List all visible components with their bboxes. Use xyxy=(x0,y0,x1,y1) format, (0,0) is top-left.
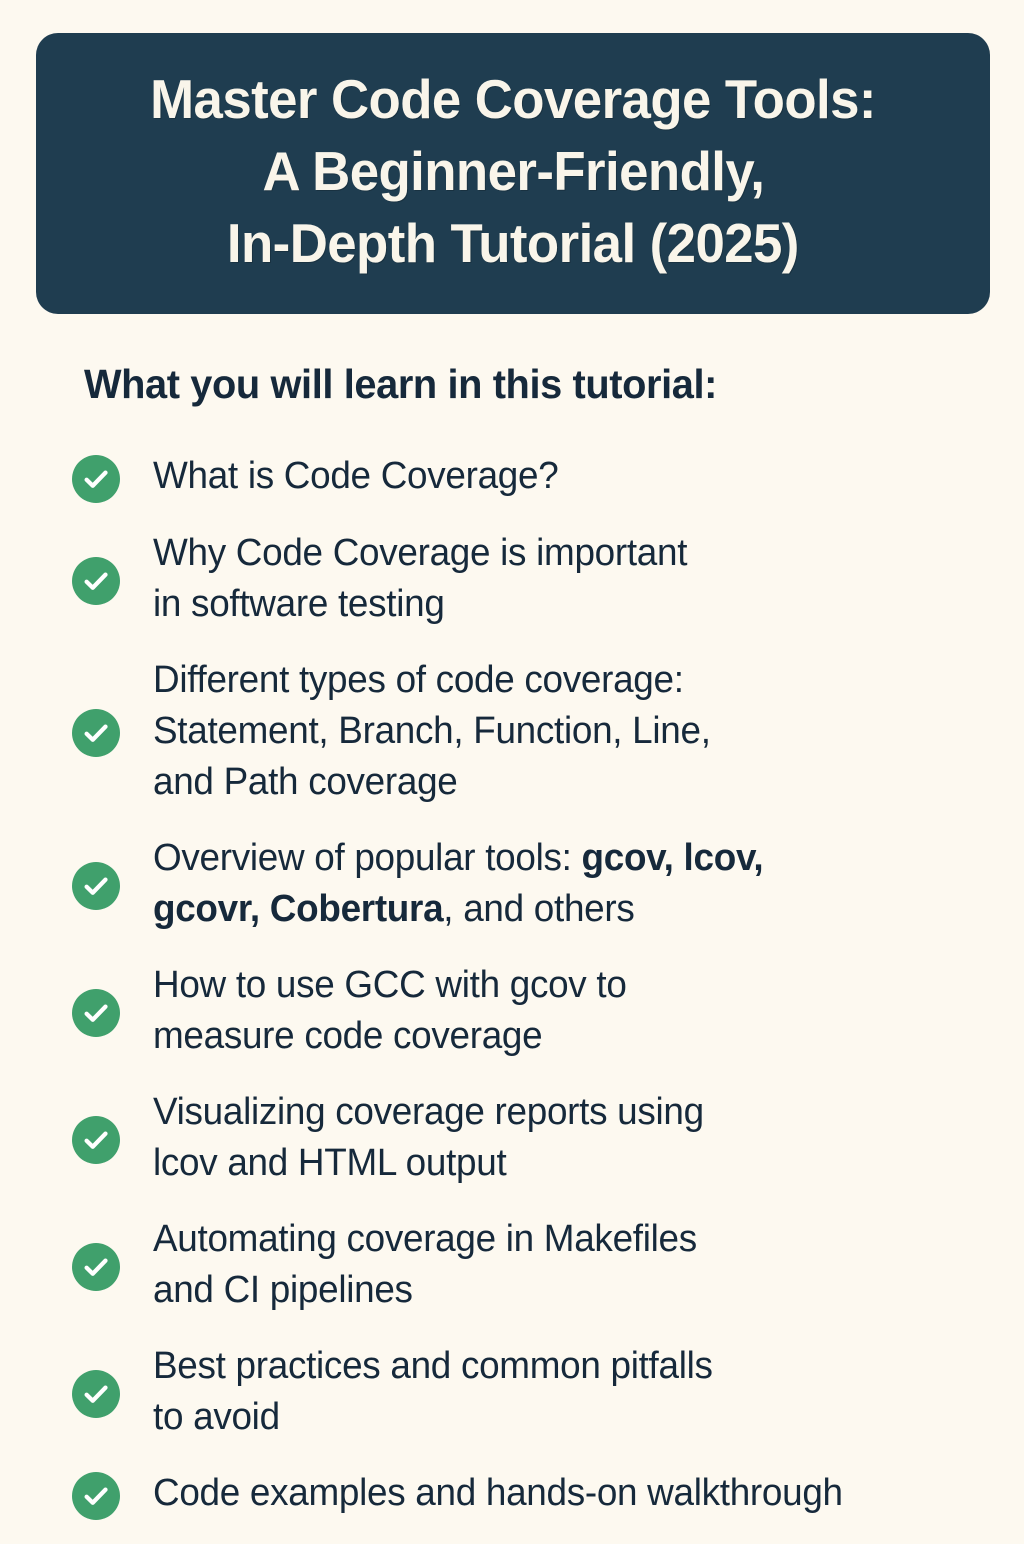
learning-objectives-list: What is Code Coverage?Why Code Coverage … xyxy=(72,450,1024,1544)
list-item: Overview of popular tools: gcov, lcov, g… xyxy=(72,832,1024,935)
list-item: Visualizing coverage reports using lcov … xyxy=(72,1086,1024,1189)
list-item: How to use GCC with gcov to measure code… xyxy=(72,959,1024,1062)
list-item-label: How to use GCC with gcov to measure code… xyxy=(153,959,627,1062)
check-circle-icon xyxy=(72,709,120,757)
check-circle-icon xyxy=(72,557,120,605)
infographic-page: Master Code Coverage Tools:A Beginner-Fr… xyxy=(0,0,1024,1536)
check-circle-icon xyxy=(72,1370,120,1418)
title-line-2: A Beginner-Friendly, xyxy=(262,135,764,207)
list-item: What is Code Coverage? xyxy=(72,450,1024,503)
title-line-3: In-Depth Tutorial (2025) xyxy=(227,207,799,279)
list-item-text: Overview of popular tools: xyxy=(153,837,582,879)
list-item-text: , and others xyxy=(443,888,634,930)
list-item-text: Best practices and common pitfalls to av… xyxy=(153,1345,713,1438)
list-item-label: Best practices and common pitfalls to av… xyxy=(153,1340,713,1443)
list-item-text: Visualizing coverage reports using lcov … xyxy=(153,1091,704,1184)
list-item-label: Code examples and hands-on walkthrough xyxy=(153,1467,843,1519)
list-item-label: Different types of code coverage: Statem… xyxy=(153,654,711,808)
list-item-label: Why Code Coverage is important in softwa… xyxy=(153,527,687,630)
check-circle-icon xyxy=(72,455,120,503)
title-line-1: Master Code Coverage Tools: xyxy=(150,63,876,135)
list-item-text: How to use GCC with gcov to measure code… xyxy=(153,964,627,1057)
title-card: Master Code Coverage Tools:A Beginner-Fr… xyxy=(36,33,990,314)
check-circle-icon xyxy=(72,1116,120,1164)
list-item-text: Why Code Coverage is important in softwa… xyxy=(153,532,687,625)
list-item: Code examples and hands-on walkthrough xyxy=(72,1467,1024,1520)
list-item-text: Different types of code coverage: Statem… xyxy=(153,659,711,803)
list-item-label: Automating coverage in Makefiles and CI … xyxy=(153,1213,697,1316)
subtitle-heading: What you will learn in this tutorial: xyxy=(84,358,717,410)
list-item-text: Automating coverage in Makefiles and CI … xyxy=(153,1218,697,1311)
check-circle-icon xyxy=(72,1243,120,1291)
list-item: Automating coverage in Makefiles and CI … xyxy=(72,1213,1024,1316)
list-item: Different types of code coverage: Statem… xyxy=(72,654,1024,808)
list-item-label: Visualizing coverage reports using lcov … xyxy=(153,1086,704,1189)
list-item-label: What is Code Coverage? xyxy=(153,450,558,502)
check-circle-icon xyxy=(72,862,120,910)
list-item-label: Overview of popular tools: gcov, lcov, g… xyxy=(153,832,763,935)
list-item: Best practices and common pitfalls to av… xyxy=(72,1340,1024,1443)
list-item-text: What is Code Coverage? xyxy=(153,455,558,497)
check-circle-icon xyxy=(72,989,120,1037)
list-item-text: Code examples and hands-on walkthrough xyxy=(153,1472,843,1514)
list-item: Why Code Coverage is important in softwa… xyxy=(72,527,1024,630)
check-circle-icon xyxy=(72,1472,120,1520)
